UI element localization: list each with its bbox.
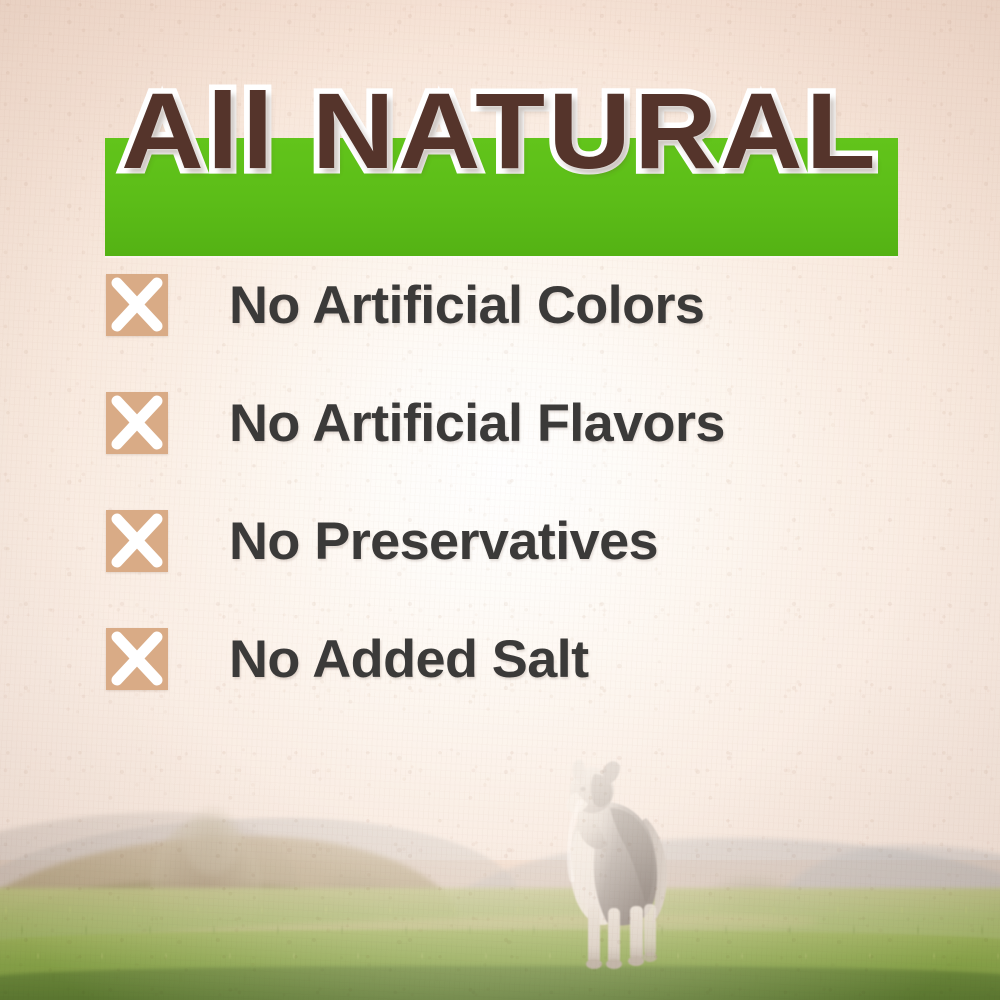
all-natural-feature-graphic: All NATURAL No Artificial Colors <box>0 0 1000 1000</box>
banner-title-text: All NATURAL <box>0 72 1000 190</box>
feature-label: No Preservatives <box>229 515 658 568</box>
feature-list: No Artificial Colors No Artificial Flavo… <box>106 246 906 718</box>
checkbox-no-added-salt <box>106 628 168 690</box>
x-mark-icon <box>106 628 168 690</box>
feature-row: No Added Salt <box>106 600 906 718</box>
x-mark-icon <box>106 510 168 572</box>
checkbox-no-artificial-colors <box>106 274 168 336</box>
feature-row: No Artificial Colors <box>106 246 906 364</box>
feature-label: No Added Salt <box>229 633 588 686</box>
feature-label: No Artificial Flavors <box>229 397 725 450</box>
checkbox-no-preservatives <box>106 510 168 572</box>
x-mark-icon <box>106 274 168 336</box>
feature-row: No Preservatives <box>106 482 906 600</box>
banner-title-label: All NATURAL <box>121 72 879 190</box>
checkbox-no-artificial-flavors <box>106 392 168 454</box>
title-banner: All NATURAL <box>0 72 1000 192</box>
feature-row: No Artificial Flavors <box>106 364 906 482</box>
x-mark-icon <box>106 392 168 454</box>
feature-label: No Artificial Colors <box>229 279 704 332</box>
content-layer: All NATURAL No Artificial Colors <box>0 0 1000 1000</box>
